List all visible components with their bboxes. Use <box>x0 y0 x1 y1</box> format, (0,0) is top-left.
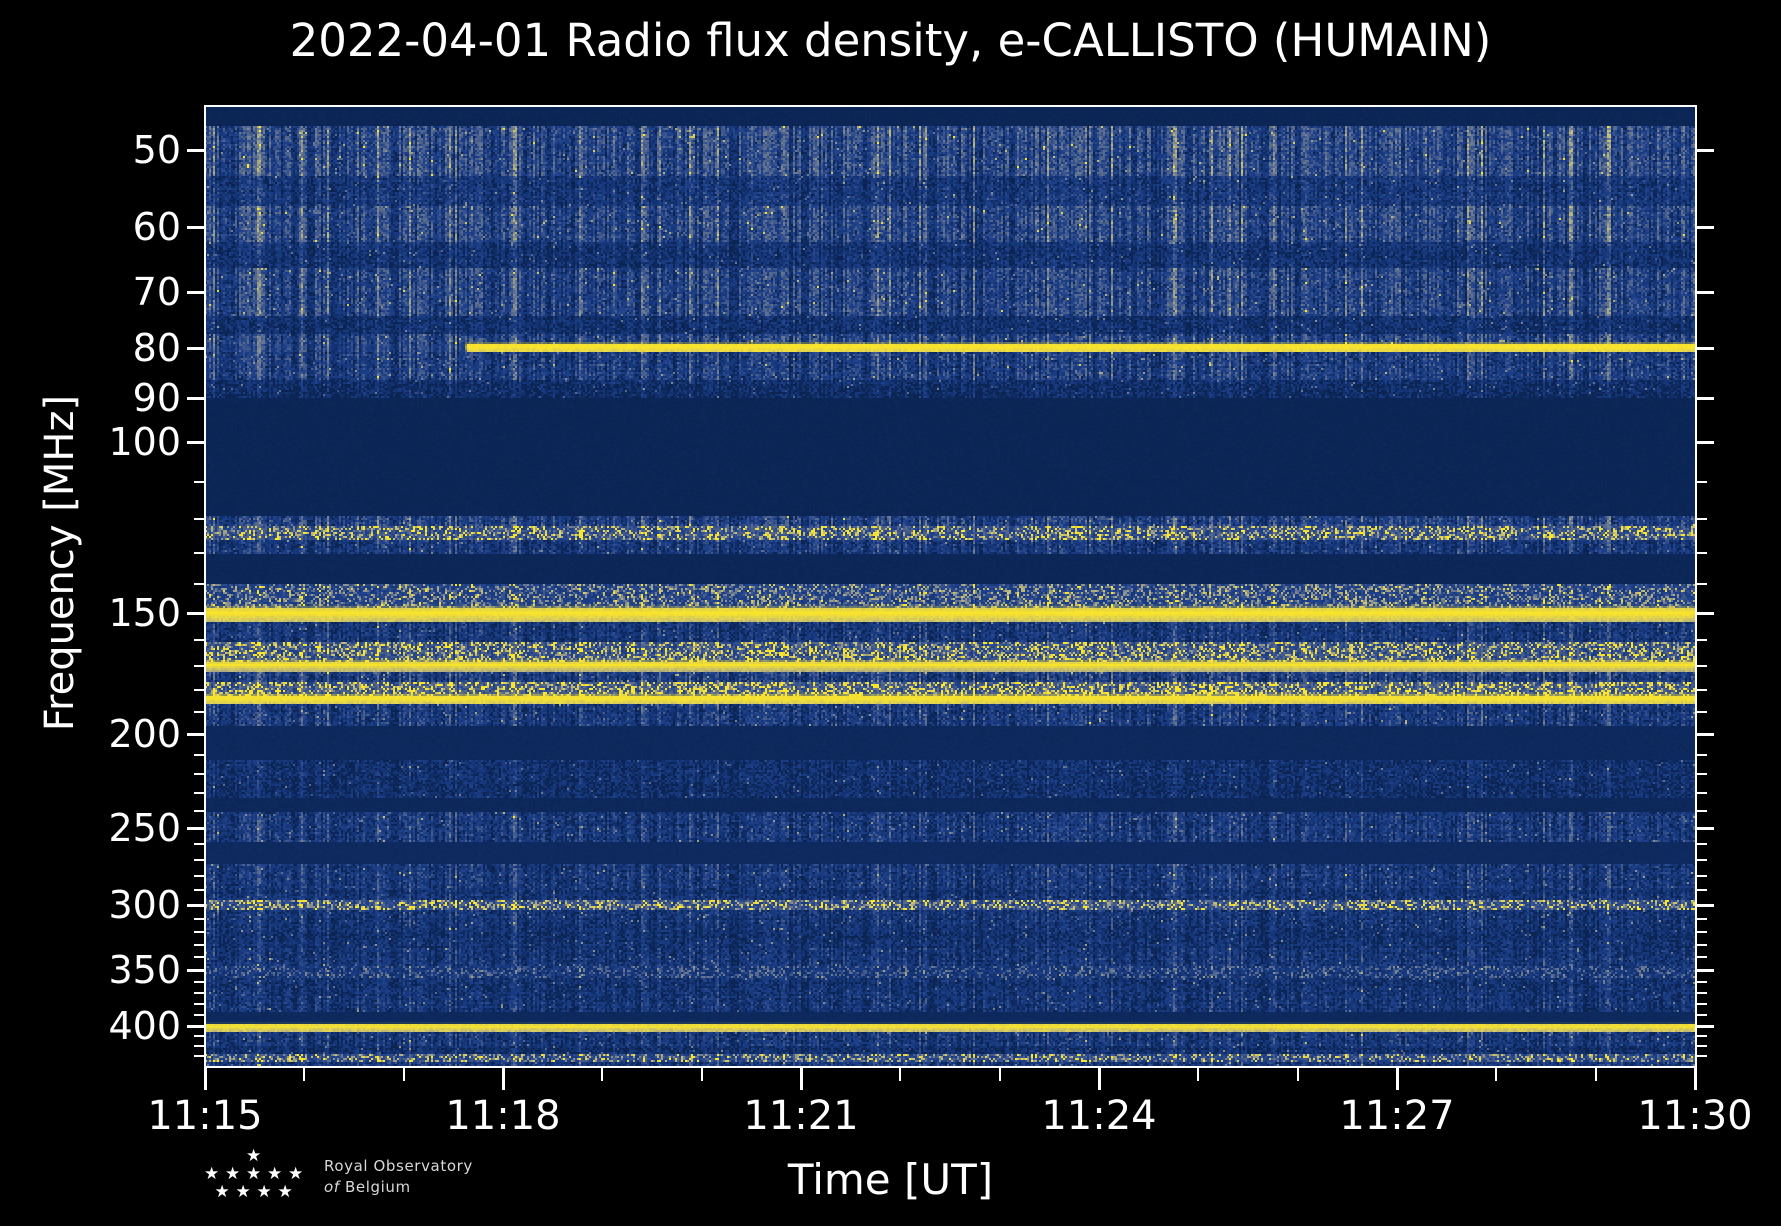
x-minor-tick <box>1495 1068 1497 1081</box>
axis-spine-right <box>1695 106 1697 1068</box>
x-minor-tick <box>601 1068 603 1081</box>
spectrogram-heatmap <box>205 106 1695 1066</box>
y-tick-label-350: 350 <box>108 948 181 992</box>
y-minor-tick-420 <box>194 1045 205 1047</box>
y-minor-tick-right-410 <box>1696 1035 1707 1037</box>
y-minor-tick-220 <box>194 773 205 775</box>
star-icon: ★ <box>225 1166 240 1183</box>
x-minor-tick <box>1297 1068 1299 1081</box>
x-tick-label-1: 11:18 <box>445 1093 560 1139</box>
y-minor-tick-right-320 <box>1696 931 1707 933</box>
y-minor-tick-right-360 <box>1696 981 1707 983</box>
y-minor-tick-right-170 <box>1696 665 1707 667</box>
x-tick-label-3: 11:24 <box>1041 1093 1156 1139</box>
y-tick-70 <box>187 291 205 294</box>
y-tick-right-200 <box>1696 733 1714 736</box>
y-tick-80 <box>187 347 205 350</box>
y-minor-tick-right-380 <box>1696 1003 1707 1005</box>
x-minor-tick <box>999 1068 1001 1081</box>
y-minor-tick-180 <box>194 689 205 691</box>
x-tick-label-2: 11:21 <box>743 1093 858 1139</box>
star-icon: ★ <box>288 1166 303 1183</box>
y-tick-right-100 <box>1696 441 1714 444</box>
y-tick-right-400 <box>1696 1025 1714 1028</box>
x-minor-tick <box>899 1068 901 1081</box>
y-axis-label: Frequency [MHz] <box>37 303 83 823</box>
y-minor-tick-right-160 <box>1696 639 1707 641</box>
y-tick-label-80: 80 <box>133 326 181 370</box>
y-minor-tick-310 <box>194 918 205 920</box>
y-tick-250 <box>187 827 205 830</box>
star-icon: ★ <box>257 1184 272 1201</box>
y-tick-right-300 <box>1696 904 1714 907</box>
star-icon: ★ <box>246 1148 261 1165</box>
y-tick-label-400: 400 <box>108 1004 181 1048</box>
y-minor-tick-260 <box>194 843 205 845</box>
y-tick-label-50: 50 <box>133 128 181 172</box>
x-tick-label-4: 11:27 <box>1339 1093 1454 1139</box>
y-tick-right-150 <box>1696 612 1714 615</box>
y-tick-label-60: 60 <box>133 205 181 249</box>
y-tick-350 <box>187 969 205 972</box>
y-minor-tick-160 <box>194 639 205 641</box>
y-minor-tick-right-140 <box>1696 583 1707 585</box>
axis-spine-top <box>204 105 1697 107</box>
x-minor-tick <box>303 1068 305 1081</box>
logo-text: Royal Observatory of Belgium <box>324 1156 473 1198</box>
x-tick-label-5: 11:30 <box>1637 1093 1752 1139</box>
y-minor-tick-110 <box>194 481 205 483</box>
y-minor-tick-right-240 <box>1696 810 1707 812</box>
y-tick-60 <box>187 226 205 229</box>
y-tick-label-70: 70 <box>133 270 181 314</box>
y-tick-label-250: 250 <box>108 806 181 850</box>
y-tick-400 <box>187 1025 205 1028</box>
y-tick-right-50 <box>1696 149 1714 152</box>
y-minor-tick-right-340 <box>1696 956 1707 958</box>
logo-of-word: of <box>324 1178 340 1196</box>
logo-line-1: Royal Observatory <box>324 1156 473 1177</box>
y-tick-200 <box>187 733 205 736</box>
y-minor-tick-370 <box>194 992 205 994</box>
y-minor-tick-240 <box>194 810 205 812</box>
spectrogram-plot-area <box>205 106 1695 1066</box>
x-tick-1 <box>502 1068 505 1090</box>
y-minor-tick-380 <box>194 1003 205 1005</box>
y-minor-tick-340 <box>194 956 205 958</box>
x-tick-2 <box>800 1068 803 1090</box>
x-tick-5 <box>1694 1068 1697 1090</box>
star-icon: ★ <box>204 1166 219 1183</box>
y-minor-tick-right-330 <box>1696 944 1707 946</box>
spectrogram-figure: 2022-04-01 Radio flux density, e-CALLIST… <box>0 0 1781 1226</box>
y-minor-tick-right-370 <box>1696 992 1707 994</box>
y-tick-label-90: 90 <box>133 376 181 420</box>
y-minor-tick-right-270 <box>1696 859 1707 861</box>
y-minor-tick-360 <box>194 981 205 983</box>
x-tick-0 <box>204 1068 207 1090</box>
star-icon: ★ <box>246 1166 261 1183</box>
star-icon: ★ <box>215 1184 230 1201</box>
y-minor-tick-right-390 <box>1696 1014 1707 1016</box>
y-minor-tick-right-290 <box>1696 889 1707 891</box>
y-tick-90 <box>187 397 205 400</box>
y-tick-right-70 <box>1696 291 1714 294</box>
y-tick-label-150: 150 <box>108 591 181 635</box>
y-minor-tick-right-120 <box>1696 518 1707 520</box>
logo-line-2: of Belgium <box>324 1177 473 1198</box>
y-tick-50 <box>187 149 205 152</box>
y-minor-tick-270 <box>194 859 205 861</box>
star-icon: ★ <box>278 1184 293 1201</box>
y-tick-right-60 <box>1696 226 1714 229</box>
y-minor-tick-right-220 <box>1696 773 1707 775</box>
y-minor-tick-right-280 <box>1696 875 1707 877</box>
y-minor-tick-320 <box>194 931 205 933</box>
x-tick-4 <box>1396 1068 1399 1090</box>
y-minor-tick-right-420 <box>1696 1045 1707 1047</box>
y-minor-tick-right-210 <box>1696 754 1707 756</box>
y-tick-right-90 <box>1696 397 1714 400</box>
y-tick-label-100: 100 <box>108 420 181 464</box>
axis-spine-bottom <box>204 1066 1697 1068</box>
y-minor-tick-290 <box>194 889 205 891</box>
y-minor-tick-190 <box>194 711 205 713</box>
star-icon: ★ <box>236 1184 251 1201</box>
x-minor-tick <box>403 1068 405 1081</box>
y-minor-tick-right-190 <box>1696 711 1707 713</box>
y-minor-tick-390 <box>194 1014 205 1016</box>
y-tick-right-80 <box>1696 347 1714 350</box>
y-minor-tick-170 <box>194 665 205 667</box>
x-tick-3 <box>1098 1068 1101 1090</box>
y-minor-tick-right-260 <box>1696 843 1707 845</box>
y-minor-tick-right-230 <box>1696 792 1707 794</box>
royal-observatory-logo: ★★★★★★★★★★ Royal Observatory of Belgium <box>196 1148 626 1214</box>
y-minor-tick-280 <box>194 875 205 877</box>
x-tick-label-0: 11:15 <box>147 1093 262 1139</box>
y-minor-tick-210 <box>194 754 205 756</box>
y-minor-tick-140 <box>194 583 205 585</box>
y-tick-right-350 <box>1696 969 1714 972</box>
y-tick-150 <box>187 612 205 615</box>
y-tick-300 <box>187 904 205 907</box>
y-minor-tick-330 <box>194 944 205 946</box>
star-icon: ★ <box>267 1166 282 1183</box>
y-minor-tick-right-310 <box>1696 918 1707 920</box>
x-minor-tick <box>1595 1068 1597 1081</box>
y-minor-tick-right-180 <box>1696 689 1707 691</box>
axis-spine-left <box>204 106 206 1068</box>
y-minor-tick-410 <box>194 1035 205 1037</box>
y-minor-tick-130 <box>194 552 205 554</box>
y-minor-tick-right-430 <box>1696 1055 1707 1057</box>
y-tick-100 <box>187 441 205 444</box>
y-tick-right-250 <box>1696 827 1714 830</box>
y-minor-tick-120 <box>194 518 205 520</box>
y-tick-label-200: 200 <box>108 712 181 756</box>
x-minor-tick <box>701 1068 703 1081</box>
y-minor-tick-right-130 <box>1696 552 1707 554</box>
y-minor-tick-430 <box>194 1055 205 1057</box>
y-tick-label-300: 300 <box>108 883 181 927</box>
x-minor-tick <box>1197 1068 1199 1081</box>
logo-stars-icon: ★★★★★★★★★★ <box>196 1148 316 1208</box>
logo-belgium-word: Belgium <box>345 1178 411 1196</box>
y-minor-tick-230 <box>194 792 205 794</box>
y-minor-tick-right-110 <box>1696 481 1707 483</box>
page-title: 2022-04-01 Radio flux density, e-CALLIST… <box>0 14 1781 67</box>
